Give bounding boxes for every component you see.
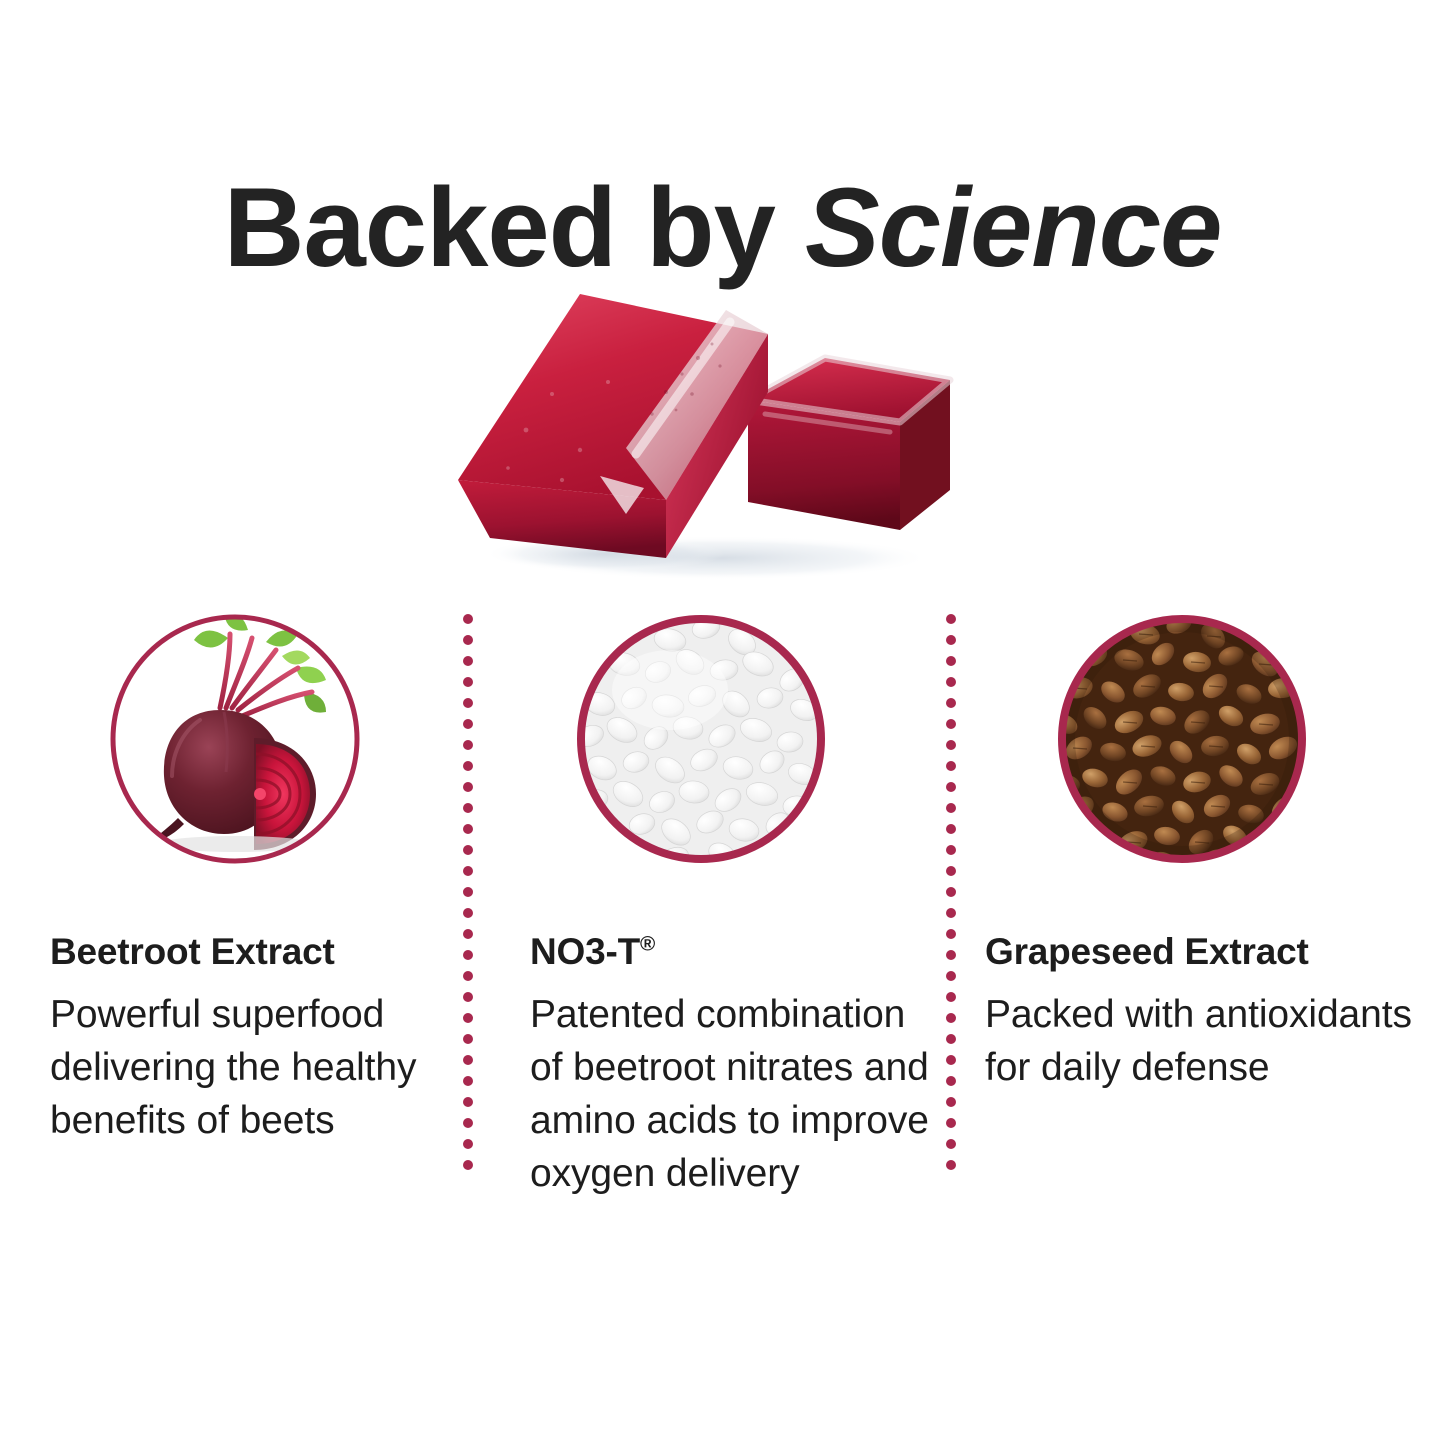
ingredient-heading-label: NO3-T (530, 931, 640, 972)
ingredient-heading: NO3-T® (530, 930, 940, 974)
ingredient-heading-label: Grapeseed Extract (985, 931, 1309, 972)
infographic-canvas: Backed by Science (0, 0, 1445, 1445)
ingredient-heading: Grapeseed Extract (985, 930, 1425, 974)
beetroot-photo-icon (108, 612, 362, 866)
hero-product-image (430, 262, 990, 587)
ingredient-description: Powerful superfood delivering the health… (50, 988, 460, 1147)
ingredient-heading-label: Beetroot Extract (50, 931, 335, 972)
white-powder-granules-icon (574, 612, 828, 866)
grape-seeds-icon (1055, 612, 1309, 866)
ingredient-description: Packed with antioxidants for daily defen… (985, 988, 1425, 1094)
ingredient-text-beetroot-extract: Beetroot Extract Powerful superfood deli… (50, 930, 460, 1147)
ingredient-text-no3-t: NO3-T® Patented combination of beetroot … (530, 930, 940, 1200)
ingredient-description: Patented combination of beetroot nitrate… (530, 988, 940, 1200)
ingredient-columns: Beetroot Extract Powerful superfood deli… (0, 600, 1445, 1300)
registered-trademark-icon: ® (640, 933, 655, 956)
ingredient-text-grapeseed-extract: Grapeseed Extract Packed with antioxidan… (985, 930, 1425, 1094)
ingredient-heading: Beetroot Extract (50, 930, 460, 974)
